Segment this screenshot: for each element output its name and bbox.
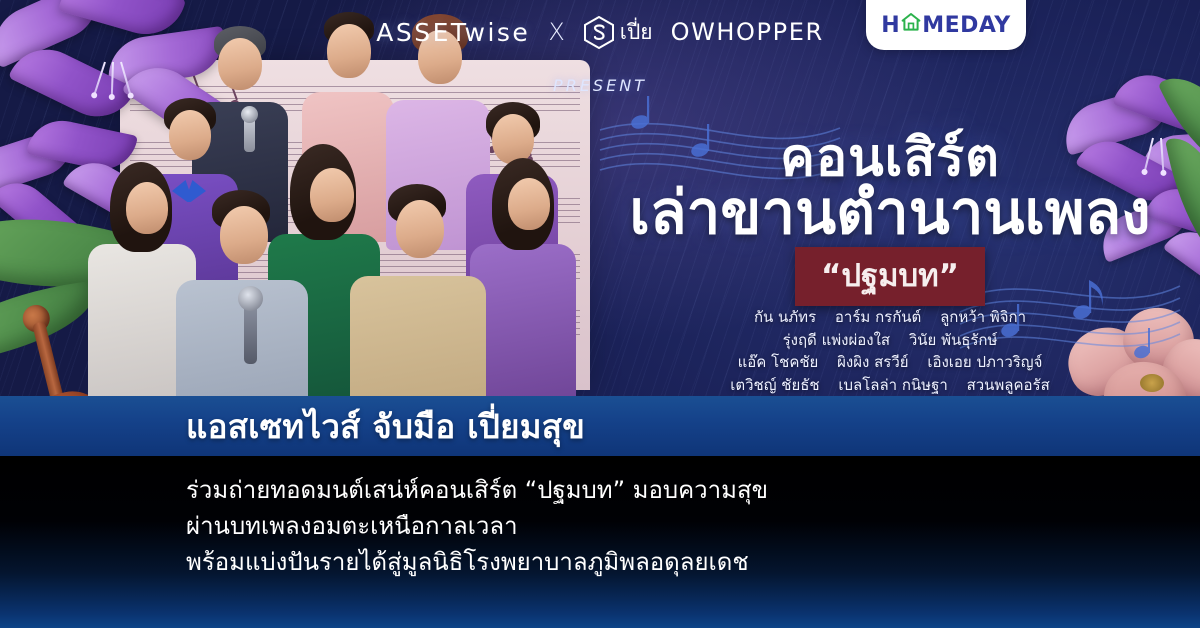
cast-name: กัน นภัทร: [754, 308, 816, 326]
house-icon: [901, 12, 921, 38]
cast-row: กัน นภัทร อาร์ม กรกันต์ ลูกหว้า พิจิกา: [640, 306, 1140, 329]
cast-name: อาร์ม กรกันต์: [835, 308, 921, 326]
title-subtitle-badge: “ปฐมบท”: [795, 247, 985, 306]
headline-band: แอสเซทไวส์ จับมือ เปี่ยมสุข: [0, 396, 1200, 456]
promo-banner: คอนเสิร์ต เล่าขานตำนานเพลง “ปฐมบท” กัน น…: [0, 0, 1200, 628]
showhopper-logo[interactable]: OWHOPPER: [671, 18, 824, 46]
concert-poster-image: คอนเสิร์ต เล่าขานตำนานเพลง “ปฐมบท” กัน น…: [0, 0, 1200, 430]
cast-name: เตวิชญ์ ชัยธัช: [730, 376, 819, 394]
cast-list: กัน นภัทร อาร์ม กรกันต์ ลูกหว้า พิจิกา ร…: [640, 306, 1140, 396]
piamsuk-logo[interactable]: เปี่ย: [584, 16, 653, 49]
cast-name: ผิงผิง สรวีย์: [837, 353, 908, 371]
caption-body-text: ร่วมถ่ายทอดมนต์เสน่ห์คอนเสิร์ต “ปฐมบท” ม…: [186, 472, 768, 580]
homeday-logo-badge[interactable]: H MEDAY: [866, 0, 1026, 50]
assetwise-logo-upper: ASSET: [376, 18, 464, 47]
cast-name: ลูกหว้า พิจิกา: [940, 308, 1026, 326]
cast-name: สวนพลูคอรัส: [967, 376, 1050, 394]
concert-title-block: คอนเสิร์ต เล่าขานตำนานเพลง “ปฐมบท”: [610, 130, 1170, 306]
hexagon-s-icon: [584, 16, 614, 49]
homeday-prefix: H: [881, 13, 900, 38]
caption-body-panel: ร่วมถ่ายทอดมนต์เสน่ห์คอนเสิร์ต “ปฐมบท” ม…: [0, 456, 1200, 628]
piamsuk-label: เปี่ย: [620, 16, 653, 49]
homeday-wordmark: H MEDAY: [881, 12, 1010, 38]
collab-x-symbol: X: [548, 18, 565, 46]
cast-row: รุ่งฤดี แพ่งผ่องใส วินัย พันธุรักษ์: [640, 329, 1140, 352]
cast-name: รุ่งฤดี แพ่งผ่องใส: [783, 331, 890, 349]
cast-row: เตวิชญ์ ชัยธัช เบลโลล่า กนิษฐา สวนพลูคอร…: [640, 374, 1140, 397]
homeday-suffix: MEDAY: [922, 13, 1011, 38]
caption-line: พร้อมแบ่งปันรายได้สู่มูลนิธิโรงพยาบาลภูม…: [186, 544, 768, 580]
cast-name: เอิงเอย ปภาวริญจ์: [927, 353, 1042, 371]
caption-line: ผ่านบทเพลงอมตะเหนือกาลเวลา: [186, 508, 768, 544]
cast-name: วินัย พันธุรักษ์: [909, 331, 998, 349]
cast-name: เบลโลล่า กนิษฐา: [838, 376, 947, 394]
lily-leaf-right-2: [1165, 129, 1200, 277]
assetwise-logo[interactable]: ASSETwise: [376, 18, 530, 47]
headline-text: แอสเซทไวส์ จับมือ เปี่ยมสุข: [186, 400, 585, 453]
caption-line: ร่วมถ่ายทอดมนต์เสน่ห์คอนเสิร์ต “ปฐมบท” ม…: [186, 472, 768, 508]
cast-name: แอ๊ค โชคชัย: [738, 353, 819, 371]
cast-row: แอ๊ค โชคชัย ผิงผิง สรวีย์ เอิงเอย ปภาวริ…: [640, 351, 1140, 374]
present-label: PRESENT: [0, 76, 1200, 95]
title-line-2: เล่าขานตำนานเพลง: [610, 182, 1170, 245]
assetwise-logo-lower: wise: [465, 18, 531, 47]
